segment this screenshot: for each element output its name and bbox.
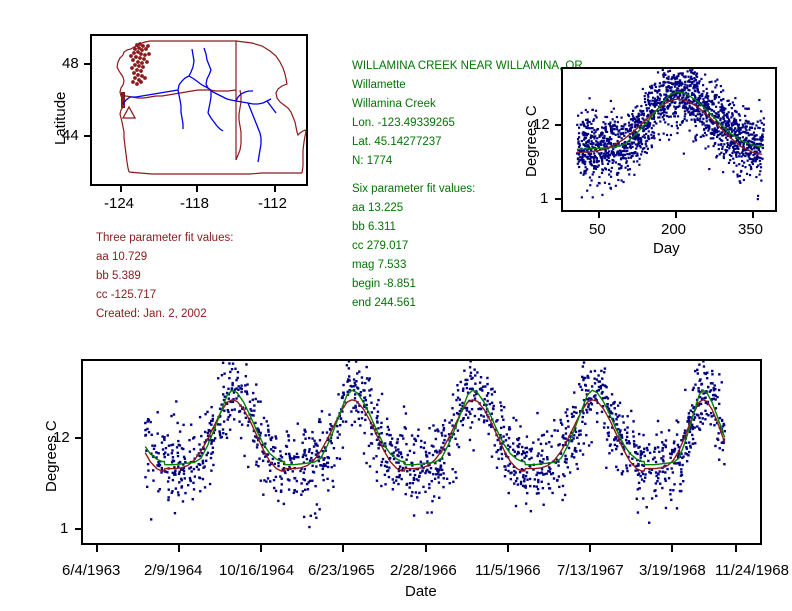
station-stream: Willamina Creek: [352, 98, 436, 110]
three-param-aa: aa 10.729: [96, 251, 147, 263]
day-xtick-350: [752, 212, 754, 218]
six-param-end: end 244.561: [352, 297, 416, 309]
map-xtick-label-2: -112: [258, 195, 287, 212]
station-basin: Willamette: [352, 79, 406, 91]
ts-ytick-1: [75, 528, 81, 530]
six-param-mag: mag 7.533: [352, 259, 406, 271]
day-ytick-1: [555, 198, 561, 200]
day-xtick-label-50: 50: [589, 221, 606, 238]
ts-xtick-label-3: 6/23/1965: [308, 562, 375, 579]
six-param-begin: begin -8.851: [352, 278, 416, 290]
map-ytick-label-0: 48: [62, 55, 79, 72]
ts-xtick-label-2: 10/16/1964: [219, 562, 294, 579]
day-plot-graphics: [563, 69, 775, 210]
map-graphics: [90, 34, 308, 186]
six-param-aa: aa 13.225: [352, 202, 403, 214]
map-ytick-1: [84, 135, 90, 137]
day-xtick-200: [675, 212, 677, 218]
ts-ylabel: Degrees C: [43, 420, 60, 492]
day-xtick-label-350: 350: [738, 221, 763, 238]
day-ytick-12: [555, 124, 561, 126]
ts-xtick-label-8: 11/24/1968: [715, 562, 789, 579]
ts-xtick-6: [589, 545, 591, 552]
day-xlabel: Day: [653, 240, 680, 257]
ts-xtick-label-4: 2/28/1966: [390, 562, 457, 579]
station-lat: Lat. 45.14277237: [352, 136, 442, 148]
ts-ytick-12: [75, 437, 81, 439]
station-lon: Lon. -123.49339265: [352, 117, 455, 129]
ts-xtick-7: [671, 545, 673, 552]
ts-xtick-0: [96, 545, 98, 552]
ts-xtick-label-5: 11/5/1966: [475, 562, 541, 579]
day-xtick-50: [598, 212, 600, 218]
map-xtick-2: [274, 186, 276, 192]
day-ytick-label-1: 1: [540, 190, 548, 207]
six-param-cc: cc 279.017: [352, 240, 408, 252]
ts-xtick-8: [735, 545, 737, 552]
ts-ytick-label-1: 1: [60, 520, 68, 537]
ts-xtick-label-6: 7/13/1967: [557, 562, 624, 579]
map-xtick-label-0: -124: [104, 195, 134, 212]
ts-xtick-1: [178, 545, 180, 552]
map-xtick-1: [196, 186, 198, 192]
ts-xtick-2: [260, 545, 262, 552]
six-param-bb: bb 6.311: [352, 221, 396, 233]
three-param-bb: bb 5.389: [96, 270, 141, 282]
ts-xtick-label-0: 6/4/1963: [62, 562, 120, 579]
timeseries-plot-graphics: [83, 361, 760, 543]
day-ylabel: Degrees C: [523, 105, 540, 177]
ts-xtick-4: [425, 545, 427, 552]
map-xtick-label-1: -118: [180, 195, 209, 212]
three-param-heading: Three parameter fit values:: [96, 232, 233, 244]
six-param-heading: Six parameter fit values:: [352, 183, 475, 195]
ts-xtick-label-7: 3/19/1968: [639, 562, 706, 579]
map-ytick-0: [84, 63, 90, 65]
ts-xlabel: Date: [405, 583, 437, 600]
ts-xtick-label-1: 2/9/1964: [144, 562, 202, 579]
map-xtick-0: [120, 186, 122, 192]
station-title: WILLAMINA CREEK NEAR WILLAMINA, OR: [352, 60, 583, 72]
day-xtick-label-200: 200: [661, 221, 686, 238]
station-n: N: 1774: [352, 155, 392, 167]
station-triangle-marker: [123, 107, 135, 118]
ts-xtick-3: [342, 545, 344, 552]
map-ylabel: Latitude: [52, 92, 69, 145]
created-date: Created: Jan. 2, 2002: [96, 308, 207, 320]
three-param-cc: cc -125.717: [96, 289, 156, 301]
ts-xtick-5: [507, 545, 509, 552]
